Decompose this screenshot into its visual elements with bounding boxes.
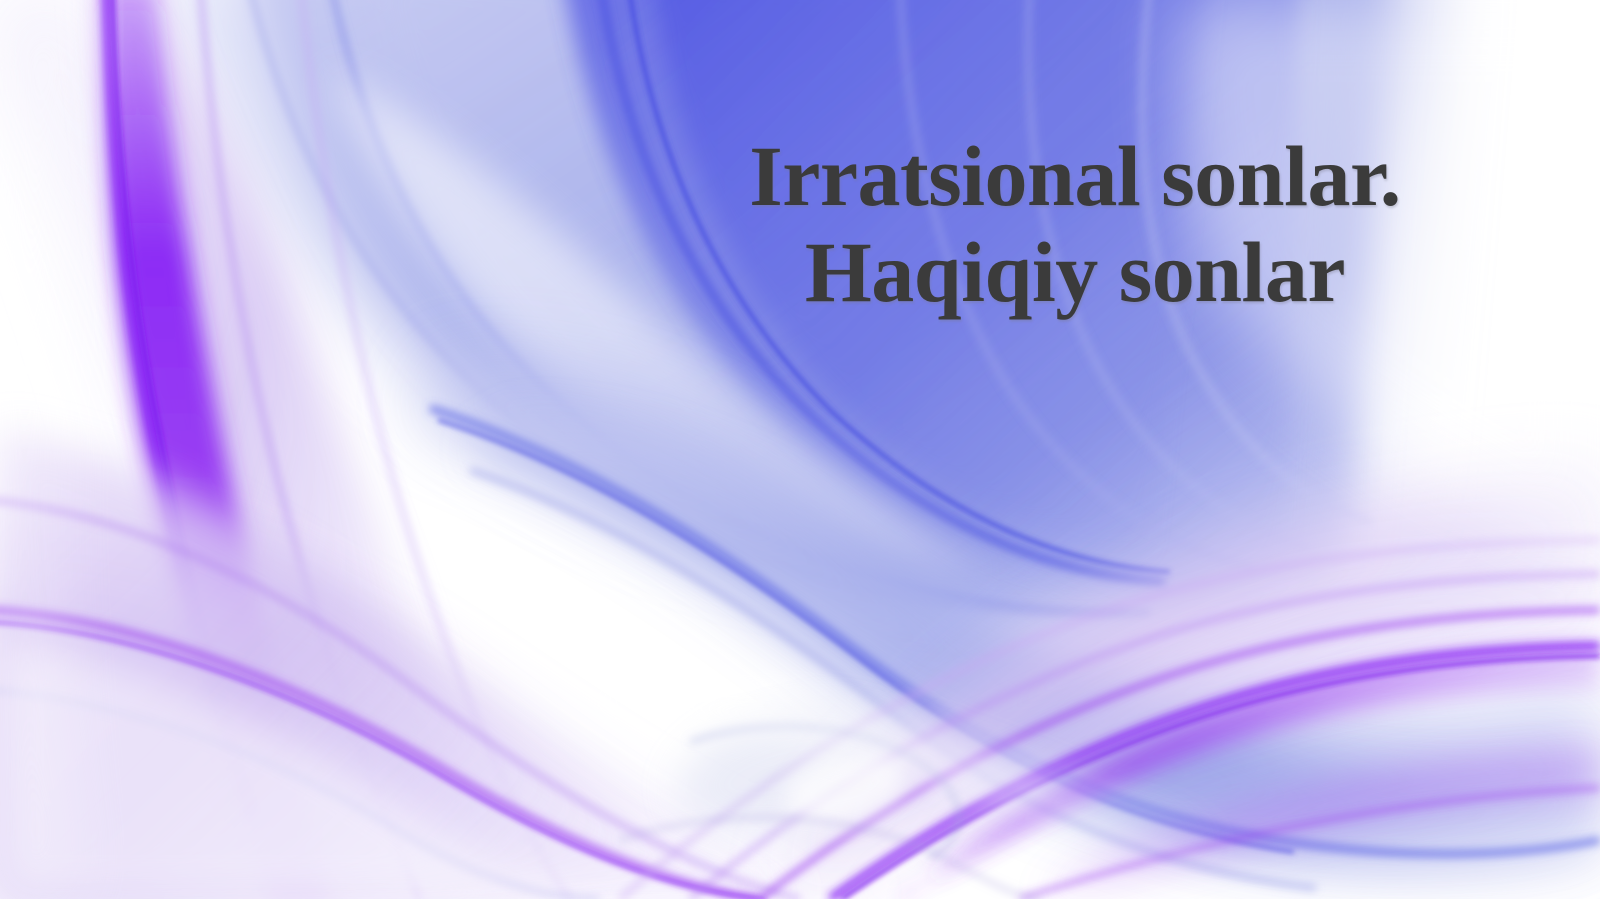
- abstract-wave-background: [0, 0, 1600, 899]
- presentation-slide: Irratsional sonlar. Haqiqiy sonlar: [0, 0, 1600, 899]
